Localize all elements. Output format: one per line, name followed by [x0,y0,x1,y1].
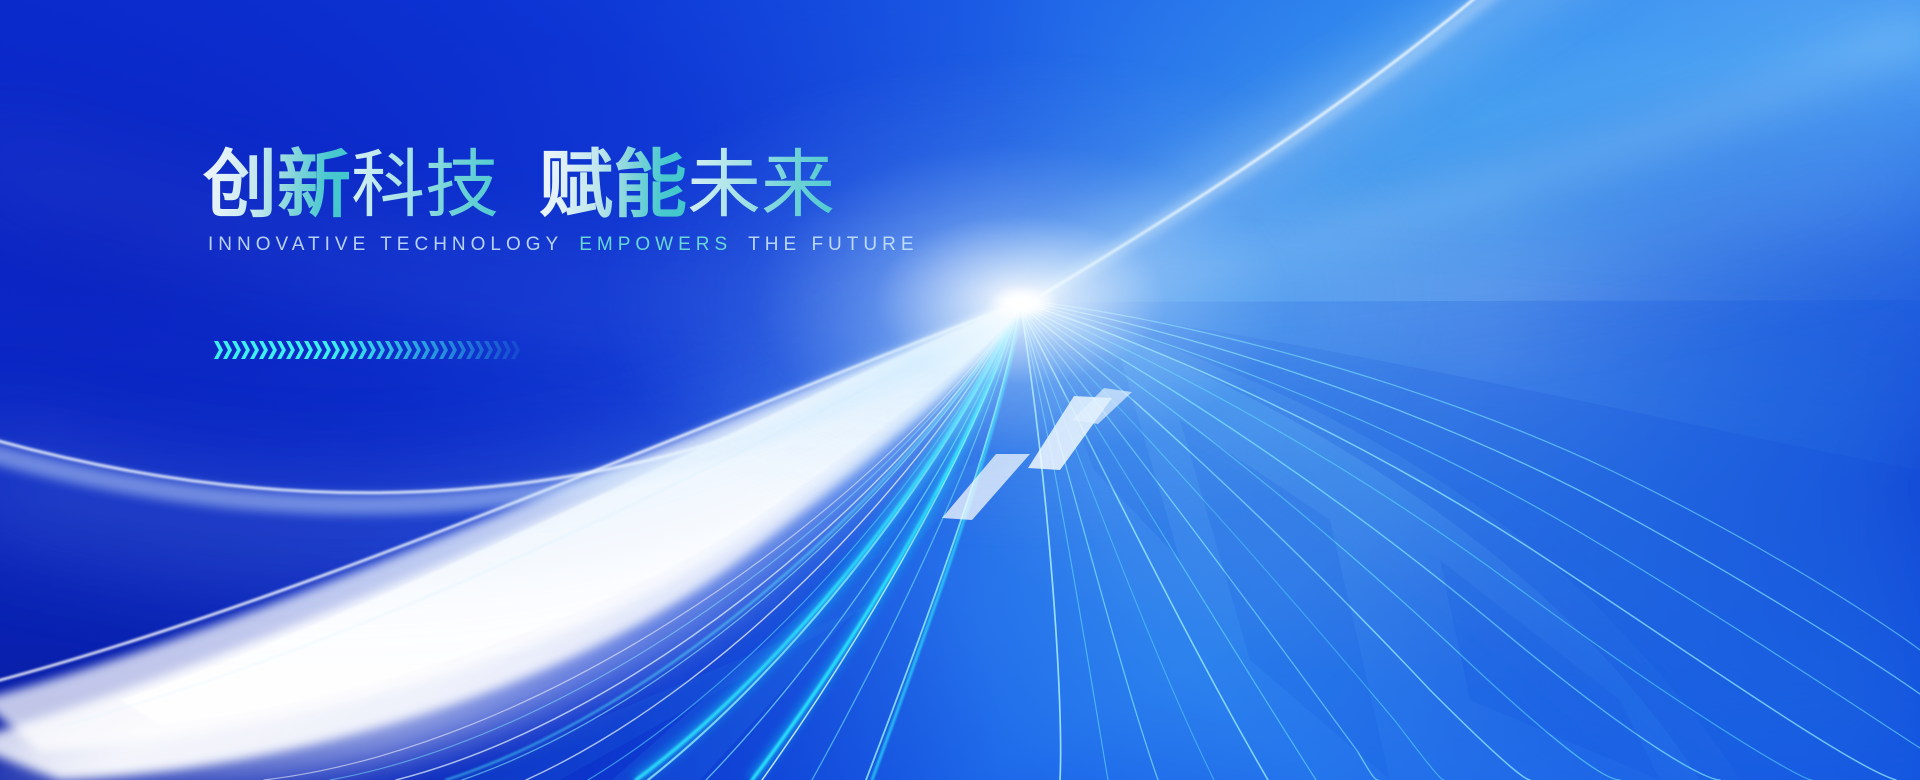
double-chevron-right-icon [502,339,511,361]
double-chevron-right-icon [484,339,493,361]
double-chevron-right-icon [358,339,367,361]
subtitle: INNOVATIVE TECHNOLOGYEMPOWERSTHE FUTURE [208,234,919,256]
subtitle-part-1: INNOVATIVE TECHNOLOGY [208,234,563,255]
double-chevron-right-icon [412,339,421,361]
double-chevron-right-icon [493,339,502,361]
double-chevron-right-icon [250,339,259,361]
double-chevron-right-icon [511,339,520,361]
double-chevron-right-icon [214,339,223,361]
double-chevron-right-icon [367,339,376,361]
double-chevron-right-icon [268,339,277,361]
double-chevron-right-icon [232,339,241,361]
double-chevron-right-icon [385,339,394,361]
double-chevron-right-icon [241,339,250,361]
double-chevron-right-icon [394,339,403,361]
double-chevron-right-icon [223,339,232,361]
double-chevron-right-icon [313,339,322,361]
double-chevron-right-icon [439,339,448,361]
double-chevron-right-icon [259,339,268,361]
headline-segment-weilai: 未来 [687,143,835,226]
double-chevron-right-icon [475,339,484,361]
double-chevron-right-icon [349,339,358,361]
chevron-strip [214,336,544,364]
double-chevron-right-icon [448,339,457,361]
double-chevron-right-icon [421,339,430,361]
double-chevron-right-icon [331,339,340,361]
banner-canvas: 创新科技赋能未来 INNOVATIVE TECHNOLOGYEMPOWERSTH… [0,0,1920,780]
double-chevron-right-icon [277,339,286,361]
double-chevron-right-icon [286,339,295,361]
vanishing-point-core [988,286,1058,320]
double-chevron-right-icon [466,339,475,361]
double-chevron-right-icon [376,339,385,361]
double-chevron-right-icon [295,339,304,361]
headline: 创新科技赋能未来 [203,148,835,222]
subtitle-part-3: THE FUTURE [748,234,918,255]
double-chevron-right-icon [457,339,466,361]
double-chevron-right-icon [304,339,313,361]
double-chevron-right-icon [430,339,439,361]
headline-segment-keji: 科技 [351,143,499,226]
double-chevron-right-icon [322,339,331,361]
headline-segment-funeng: 赋能 [539,143,687,226]
subtitle-part-2: EMPOWERS [579,234,732,255]
double-chevron-right-icon [340,339,349,361]
double-chevron-right-icon [403,339,412,361]
headline-segment-chuangxin: 创新 [203,143,351,226]
